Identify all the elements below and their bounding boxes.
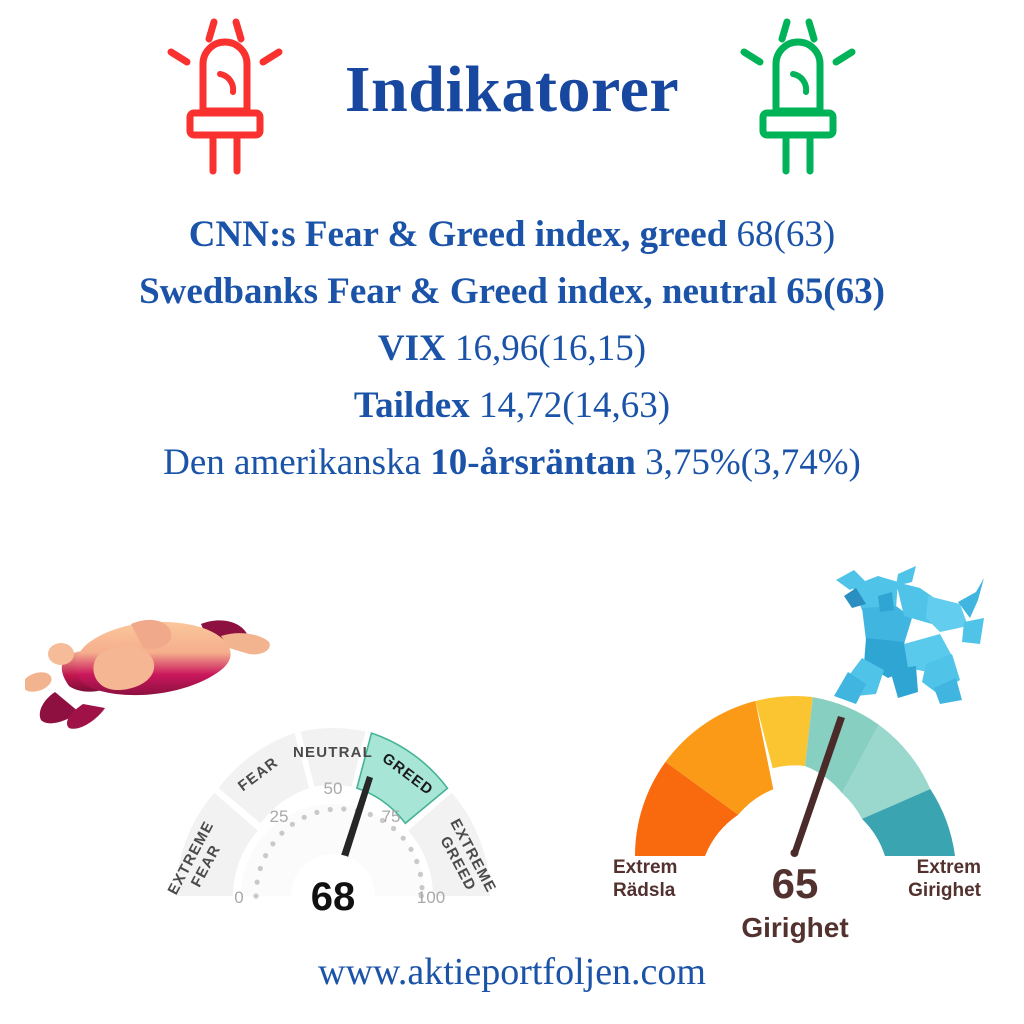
- led-indicator-icon-green: [738, 8, 858, 178]
- indicator-row-vix: VIX 16,96(16,15): [0, 320, 1024, 377]
- gauge-band-label-neutral: NEUTRAL: [293, 744, 373, 761]
- indicator-label-treasury: 10-årsräntan: [430, 442, 636, 483]
- header: Indikatorer: [0, 0, 1024, 190]
- indicator-row-treasury: Den amerikanska 10-årsräntan 3,75%(3,74%…: [0, 434, 1024, 491]
- indicator-value-vix: 16,96(16,15): [455, 328, 646, 369]
- gauge-tick-75: 75: [382, 807, 401, 826]
- gauge-center-value: 68: [311, 875, 356, 919]
- indicator-value-taildex: 14,72(14,63): [479, 385, 670, 426]
- gauge-tick-0: 0: [234, 888, 243, 907]
- page-title: Indikatorer: [0, 52, 1024, 128]
- indicator-row-cnn: CNN:s Fear & Greed index, greed 68(63): [0, 206, 1024, 263]
- indicator-label-swedbank: Swedbanks Fear & Greed index, neutral 65…: [139, 271, 885, 312]
- indicator-label-vix: VIX: [378, 328, 446, 369]
- indicator-row-swedbank: Swedbanks Fear & Greed index, neutral 65…: [0, 263, 1024, 320]
- swedbank-state-label: Girighet: [595, 912, 995, 944]
- indicator-row-taildex: Taildex 14,72(14,63): [0, 377, 1024, 434]
- indicator-label-cnn: CNN:s Fear & Greed index, greed: [189, 214, 727, 255]
- indicator-value-cnn: 68(63): [737, 214, 836, 255]
- gauge-tick-100: 100: [417, 888, 445, 907]
- website-url[interactable]: www.aktieportfoljen.com: [0, 950, 1024, 994]
- indicator-label-taildex: Taildex: [354, 385, 470, 426]
- cnn-fear-greed-gauge: 0 25 50 75 100 EXTREMEFEAR FEAR NEUTRAL …: [123, 660, 543, 960]
- poster-canvas: Indikatorer CNN:s Fear &: [0, 0, 1024, 1024]
- indicator-label-treasury-pre: Den amerikanska: [163, 442, 430, 483]
- gauge-tick-50: 50: [324, 779, 343, 798]
- indicator-value-treasury: 3,75%(3,74%): [636, 442, 861, 483]
- indicator-list: CNN:s Fear & Greed index, greed 68(63) S…: [0, 206, 1024, 491]
- swedbank-gauge-segments: [635, 696, 955, 856]
- swedbank-center-value: 65: [595, 860, 995, 908]
- swedbank-fear-greed-gauge: Extrem Rädsla Extrem Girighet 65 Girighe…: [595, 660, 995, 960]
- gauge-tick-25: 25: [270, 807, 289, 826]
